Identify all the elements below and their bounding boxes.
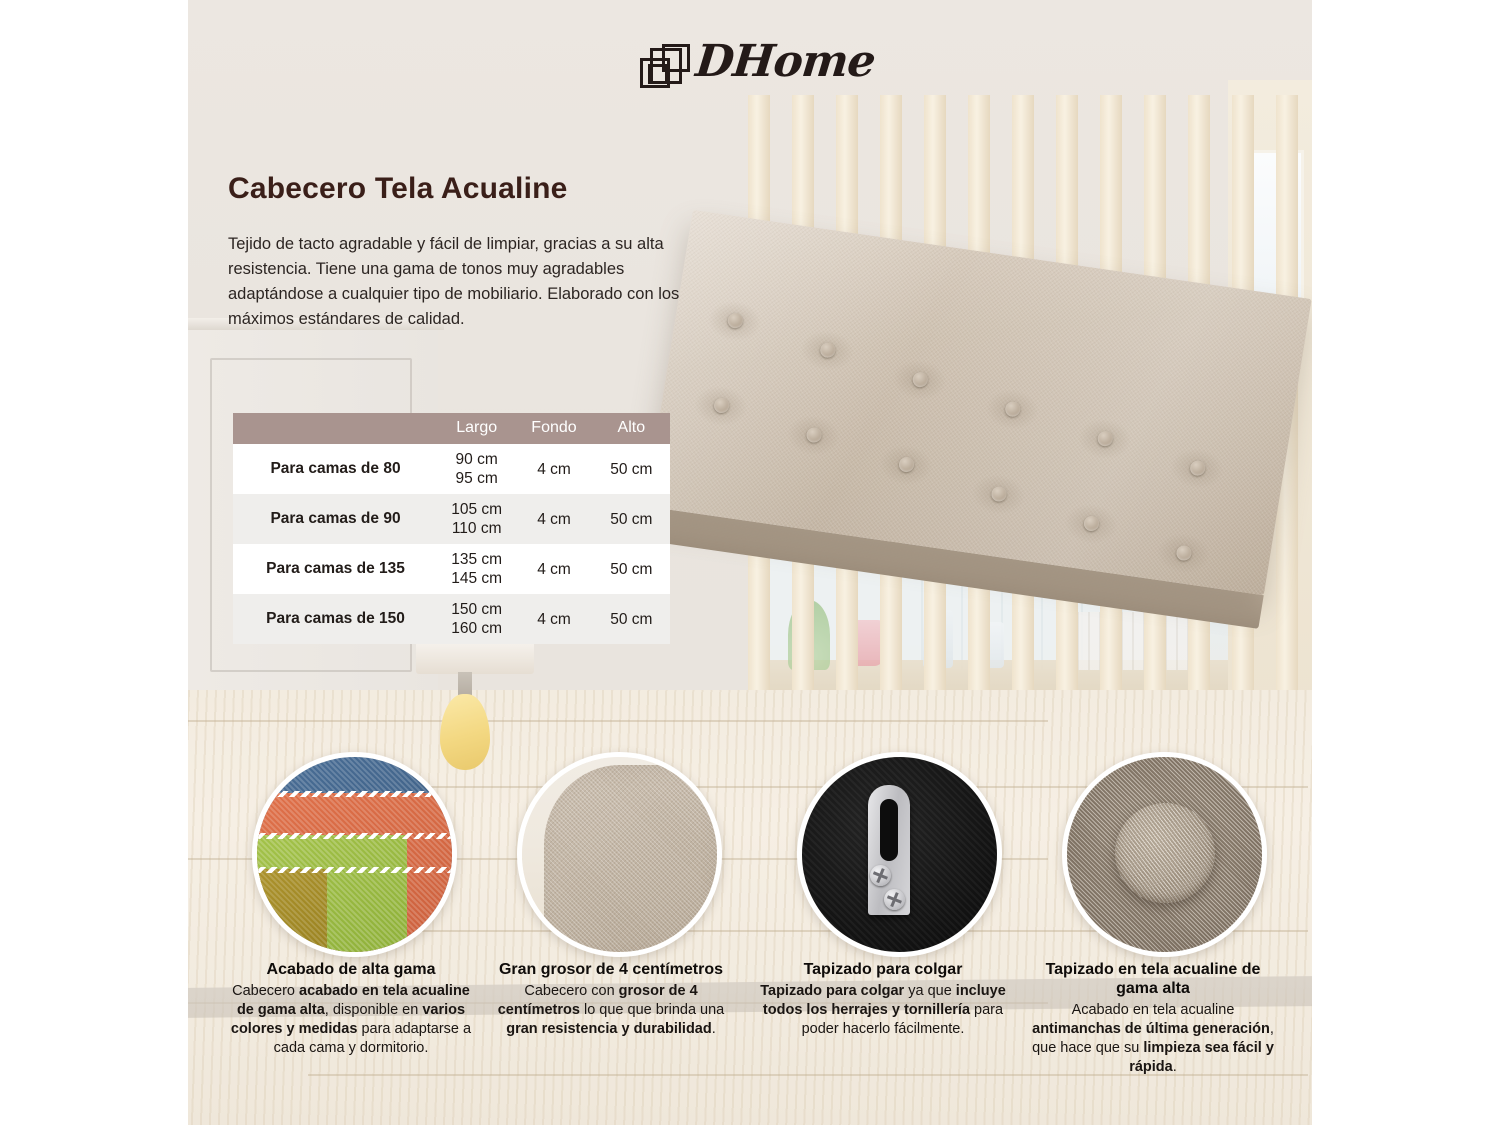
row-label: Para camas de 150 [233,610,438,628]
product-image-headboard [693,210,1312,630]
feature-caption-1: Acabado de alta gama Cabecero acabado en… [228,960,474,1058]
poster-canvas: DHome Cabecero Tela Acualine Tejido de t… [0,0,1500,1125]
lamp-shade [416,640,534,674]
feature-heading: Tapizado en tela acualine de gama alta [1030,960,1276,998]
cell-alto: 50 cm [593,610,670,629]
feature-heading: Gran grosor de 4 centímetros [488,960,734,979]
table-row: Para camas de 150150 cm160 cm4 cm50 cm [233,594,670,644]
table-row: Para camas de 135135 cm145 cm4 cm50 cm [233,544,670,594]
fabric-button-icon [1115,803,1215,903]
swatch-edge [252,833,457,839]
brand-logo: DHome [640,38,880,100]
feature-heading: Tapizado para colgar [760,960,1006,979]
feature-caption-4: Tapizado en tela acualine de gama alta A… [1030,960,1276,1077]
feature-body: Acabado en tela acualine antimanchas de … [1030,1001,1276,1077]
column-header-largo: Largo [438,413,515,444]
cell-largo: 90 cm95 cm [438,450,515,488]
product-description: Tejido de tacto agradable y fácil de lim… [228,232,680,332]
floor-plank-seam [188,720,1048,722]
feature-body: Cabecero con grosor de 4 centímetros lo … [488,982,734,1039]
column-header-fondo: Fondo [515,413,592,444]
logo-mark-icon [640,44,694,96]
feature-body: Tapizado para colgar ya que incluye todo… [760,982,1006,1039]
cell-largo: 135 cm145 cm [438,550,515,588]
logo-wordmark: DHome [693,36,877,87]
table-header-row: Largo Fondo Alto [233,413,670,444]
phillips-screw-icon [884,889,905,910]
bracket-keyhole-slot [880,799,898,861]
feature-body: Cabecero acabado en tela acualine de gam… [228,982,474,1058]
phillips-screw-icon [870,865,891,886]
feature-image-thickness [517,752,722,957]
feature-caption-2: Gran grosor de 4 centímetros Cabecero co… [488,960,734,1039]
dimensions-table: Largo Fondo Alto Para camas de 8090 cm95… [233,413,670,644]
feature-captions: Acabado de alta gama Cabecero acabado en… [188,955,1312,1105]
feature-image-fabric-button [1062,752,1267,957]
page-title: Cabecero Tela Acualine [228,172,698,206]
row-label: Para camas de 90 [233,510,438,528]
header-spacer [233,413,438,444]
cell-alto: 50 cm [593,560,670,579]
swatch-edge [252,791,457,797]
feature-image-fabric-swatches [252,752,457,957]
feature-heading: Acabado de alta gama [228,960,474,979]
cell-largo: 105 cm110 cm [438,500,515,538]
cell-fondo: 4 cm [515,560,592,579]
table-body: Para camas de 8090 cm95 cm4 cm50 cmPara … [233,444,670,644]
wall-bracket-icon [868,785,910,915]
feature-image-bracket [797,752,1002,957]
table-row: Para camas de 90105 cm110 cm4 cm50 cm [233,494,670,544]
column-header-alto: Alto [593,413,670,444]
swatch-olive-icon [252,869,327,957]
row-label: Para camas de 80 [233,460,438,478]
swatch-edge [252,867,457,873]
cell-largo: 150 cm160 cm [438,600,515,638]
row-label: Para camas de 135 [233,560,438,578]
cell-fondo: 4 cm [515,460,592,479]
cell-fondo: 4 cm [515,510,592,529]
feature-caption-3: Tapizado para colgar Tapizado para colga… [760,960,1006,1039]
cell-fondo: 4 cm [515,610,592,629]
table-row: Para camas de 8090 cm95 cm4 cm50 cm [233,444,670,494]
cell-alto: 50 cm [593,510,670,529]
cell-alto: 50 cm [593,460,670,479]
headboard-corner-icon [544,765,722,957]
